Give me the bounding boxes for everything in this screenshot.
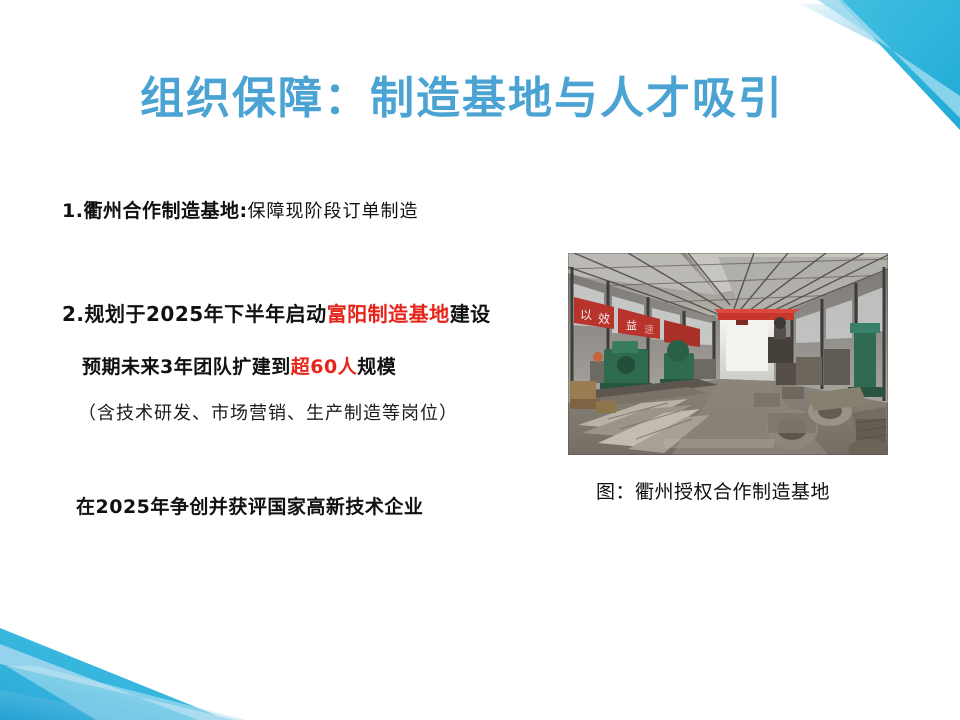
svg-text:速: 速 xyxy=(644,324,654,336)
svg-text:以: 以 xyxy=(580,308,592,322)
page-title: 组织保障：制造基地与人才吸引 xyxy=(140,62,784,126)
bullet-1-label: 1.衢州合作制造基地: xyxy=(62,200,248,222)
bullet-2-highlight: 富阳制造基地 xyxy=(327,302,450,326)
factory-photo: 以 效 益 速 xyxy=(568,253,888,455)
figure-caption: 图：衢州授权合作制造基地 xyxy=(596,477,830,504)
bullet-3: 在2025年争创并获评国家高新技术企业 xyxy=(76,492,423,519)
bullet-1-value: 保障现阶段订单制造 xyxy=(248,201,419,222)
bullet-2-sub-1: 预期未来3年团队扩建到超60人规模 xyxy=(82,352,396,379)
bullet-2: 2.规划于2025年下半年启动富阳制造基地建设 xyxy=(62,298,491,327)
svg-text:益: 益 xyxy=(626,318,637,332)
slide-canvas: 组织保障：制造基地与人才吸引 1.衢州合作制造基地:保障现阶段订单制造 2.规划… xyxy=(0,0,960,720)
bullet-2-prefix: 2.规划于2025年下半年启动 xyxy=(62,302,327,326)
factory-photo-image: 以 效 益 速 xyxy=(568,253,888,455)
bullet-2-sub-1-suffix: 规模 xyxy=(357,356,396,378)
bullet-1: 1.衢州合作制造基地:保障现阶段订单制造 xyxy=(62,196,419,223)
bullet-2-sub-2: （含技术研发、市场营销、生产制造等岗位） xyxy=(78,399,458,425)
bullet-2-suffix: 建设 xyxy=(450,302,491,326)
bullet-2-sub-1-highlight: 超60人 xyxy=(291,356,357,378)
bullet-2-sub-1-prefix: 预期未来3年团队扩建到 xyxy=(82,356,291,378)
svg-text:效: 效 xyxy=(598,311,610,326)
